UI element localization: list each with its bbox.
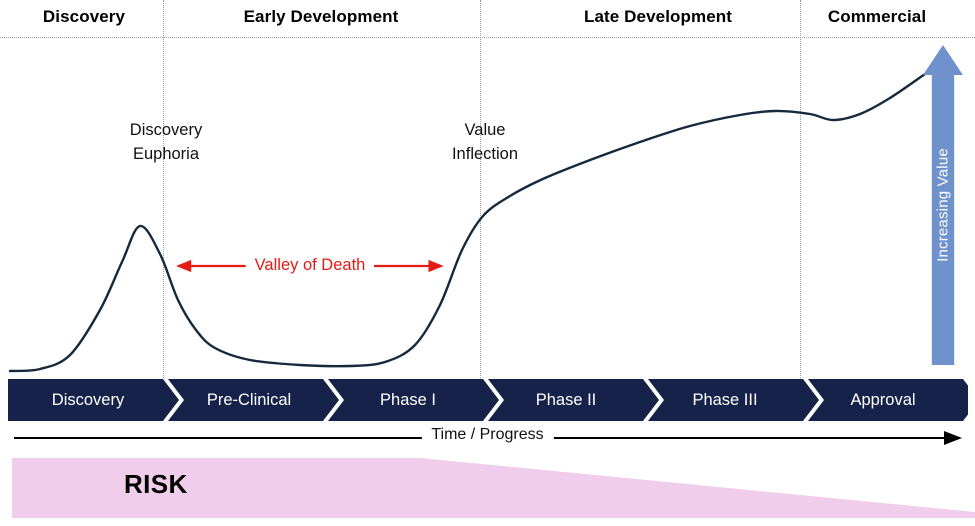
value-curve-plot (0, 0, 975, 378)
increasing-value-label: Increasing Value (935, 148, 952, 262)
annotation-value-inflection: Value Inflection (375, 118, 595, 166)
annotation-line-1: Discovery (56, 118, 276, 142)
annotation-line-1: Value (375, 118, 595, 142)
increasing-value-arrow: Increasing Value (923, 45, 963, 365)
pharma-value-curve-diagram: Discovery Early Development Late Develop… (0, 0, 975, 521)
phase-chevron-phase-iii[interactable]: Phase III (645, 379, 805, 421)
valley-of-death-label: Valley of Death (246, 256, 375, 275)
value-curve-svg (0, 0, 975, 378)
risk-wedge: RISK (0, 455, 975, 521)
arrow-right-icon (374, 257, 444, 275)
phase-chevron-phase-ii[interactable]: Phase II (486, 379, 646, 421)
time-progress-axis: Time / Progress (0, 424, 975, 452)
time-progress-label: Time / Progress (421, 426, 553, 444)
phase-chevron-approval[interactable]: Approval (803, 379, 963, 421)
risk-label: RISK (124, 469, 188, 500)
phase-chevron-pre-clinical[interactable]: Pre-Clinical (169, 379, 329, 421)
phase-chevron-discovery[interactable]: Discovery (8, 379, 168, 421)
annotation-line-2: Inflection (375, 142, 595, 166)
annotation-discovery-euphoria: Discovery Euphoria (56, 118, 276, 166)
phase-chevron-phase-i[interactable]: Phase I (328, 379, 488, 421)
arrow-left-icon (176, 257, 246, 275)
valley-of-death-annotation: Valley of Death (176, 256, 444, 275)
annotation-line-2: Euphoria (56, 142, 276, 166)
phase-chevron-bar: Discovery Pre-Clinical Phase I Phase II … (8, 379, 968, 421)
